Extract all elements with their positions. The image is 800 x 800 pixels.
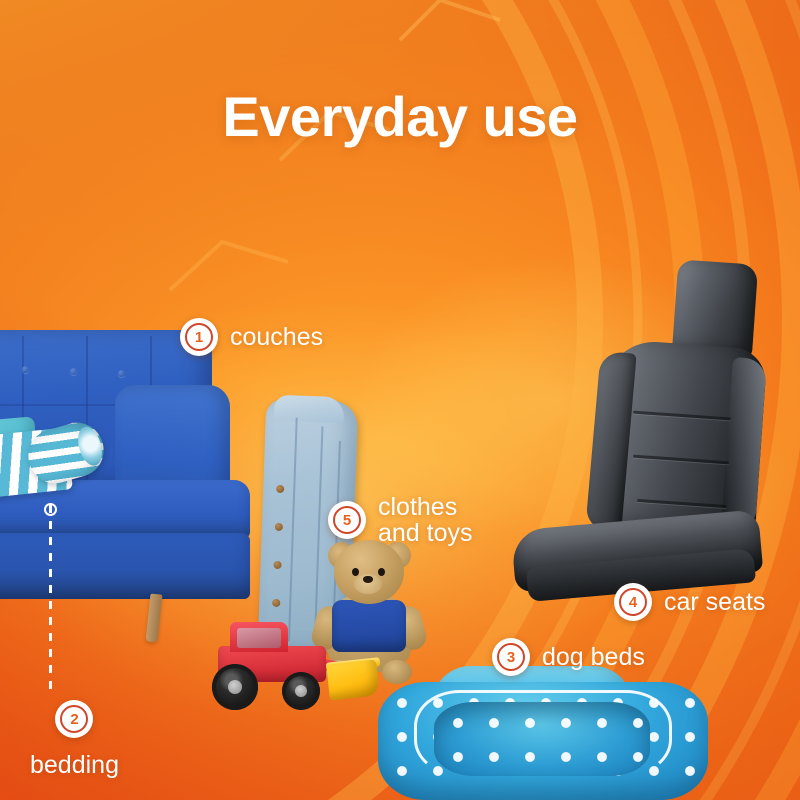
couch-leg	[146, 594, 163, 643]
callout-bedding[interactable]: 2 bedding	[30, 700, 119, 778]
couch-base	[0, 533, 250, 599]
tractor-hub-rear	[228, 680, 242, 694]
bedding-leader-dot	[44, 503, 57, 516]
callout-label: car seats	[664, 589, 765, 615]
tractor-hub-front	[295, 685, 307, 697]
tractor-bucket	[326, 659, 379, 700]
badge-3: 3	[492, 638, 530, 676]
badge-ring-icon: 1	[185, 323, 213, 351]
callout-label: clothes and toys	[378, 494, 473, 547]
badge-ring-icon: 4	[619, 588, 647, 616]
callout-label: bedding	[30, 752, 119, 778]
tractor-window	[237, 628, 281, 648]
poster-canvas: Everyday use 1 couches 5 clothes and toy…	[0, 0, 800, 800]
denim-collar	[274, 395, 345, 423]
badge-ring-icon: 5	[333, 506, 361, 534]
callout-car-seats[interactable]: 4 car seats	[614, 583, 765, 621]
badge-number: 1	[195, 330, 203, 345]
teddy-bear-head	[334, 540, 404, 604]
badge-number: 3	[507, 650, 515, 665]
dog-bed-piping	[414, 690, 672, 776]
bedding-leader-line	[49, 505, 52, 697]
badge-number: 2	[70, 712, 78, 727]
badge-2: 2	[55, 700, 93, 738]
teddy-bear-eye-left	[352, 568, 359, 576]
callout-couches[interactable]: 1 couches	[180, 318, 323, 356]
badge-number: 5	[343, 513, 351, 528]
teddy-bear-nose	[363, 576, 373, 583]
dog-bed-object	[378, 672, 708, 800]
callout-dog-beds[interactable]: 3 dog beds	[492, 638, 645, 676]
teddy-bear-eye-right	[378, 568, 385, 576]
badge-5: 5	[328, 501, 366, 539]
badge-4: 4	[614, 583, 652, 621]
toy-tractor-object	[196, 620, 386, 710]
badge-1: 1	[180, 318, 218, 356]
callout-label: dog beds	[542, 644, 645, 670]
callout-clothes-and-toys[interactable]: 5 clothes and toys	[328, 494, 473, 547]
callout-label: couches	[230, 324, 323, 350]
badge-ring-icon: 3	[497, 643, 525, 671]
badge-number: 4	[629, 595, 637, 610]
badge-ring-icon: 2	[60, 705, 88, 733]
car-seat-object	[505, 262, 795, 592]
page-title: Everyday use	[0, 84, 800, 149]
